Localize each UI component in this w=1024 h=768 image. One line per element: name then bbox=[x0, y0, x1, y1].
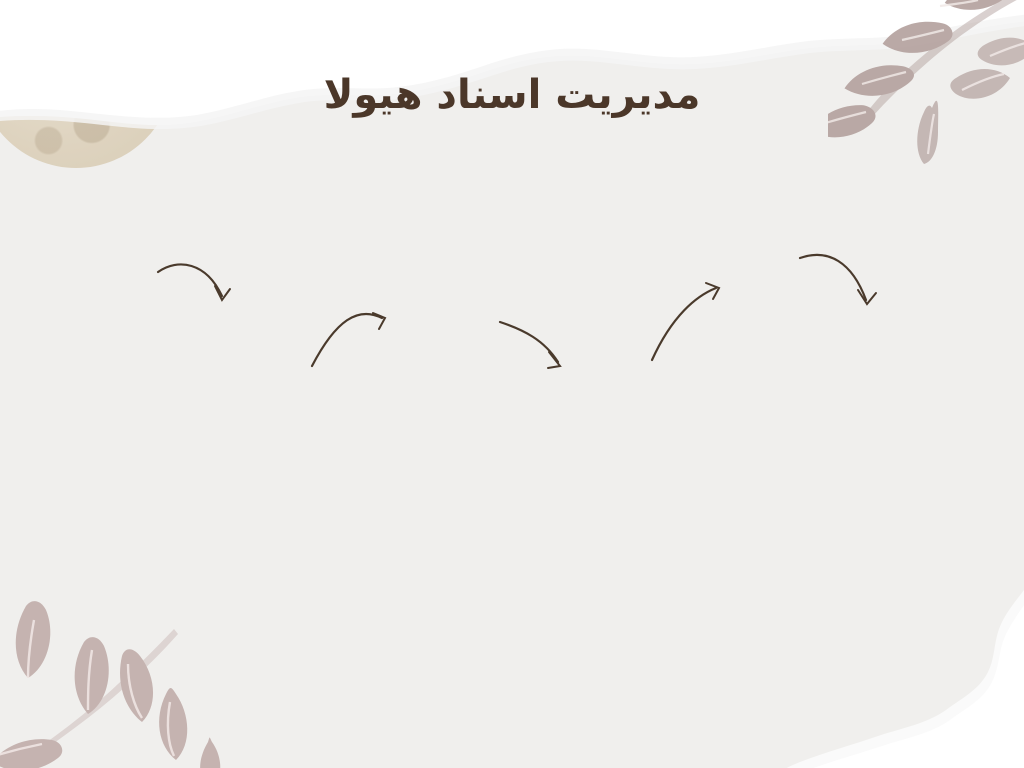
infographic-slide: مدیریت اسناد هیولا bbox=[0, 0, 1024, 768]
